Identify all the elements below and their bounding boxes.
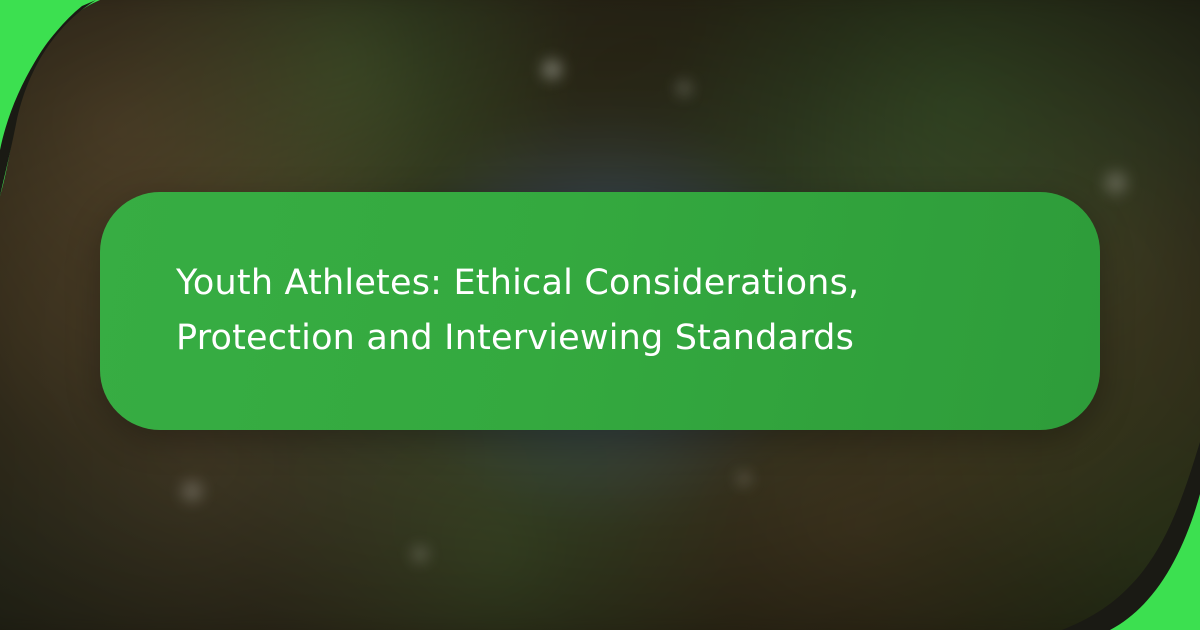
headline-text: Youth Athletes: Ethical Considerations, … [176, 256, 866, 367]
share-card-canvas: Youth Athletes: Ethical Considerations, … [0, 0, 1200, 630]
headline-card: Youth Athletes: Ethical Considerations, … [100, 192, 1100, 430]
